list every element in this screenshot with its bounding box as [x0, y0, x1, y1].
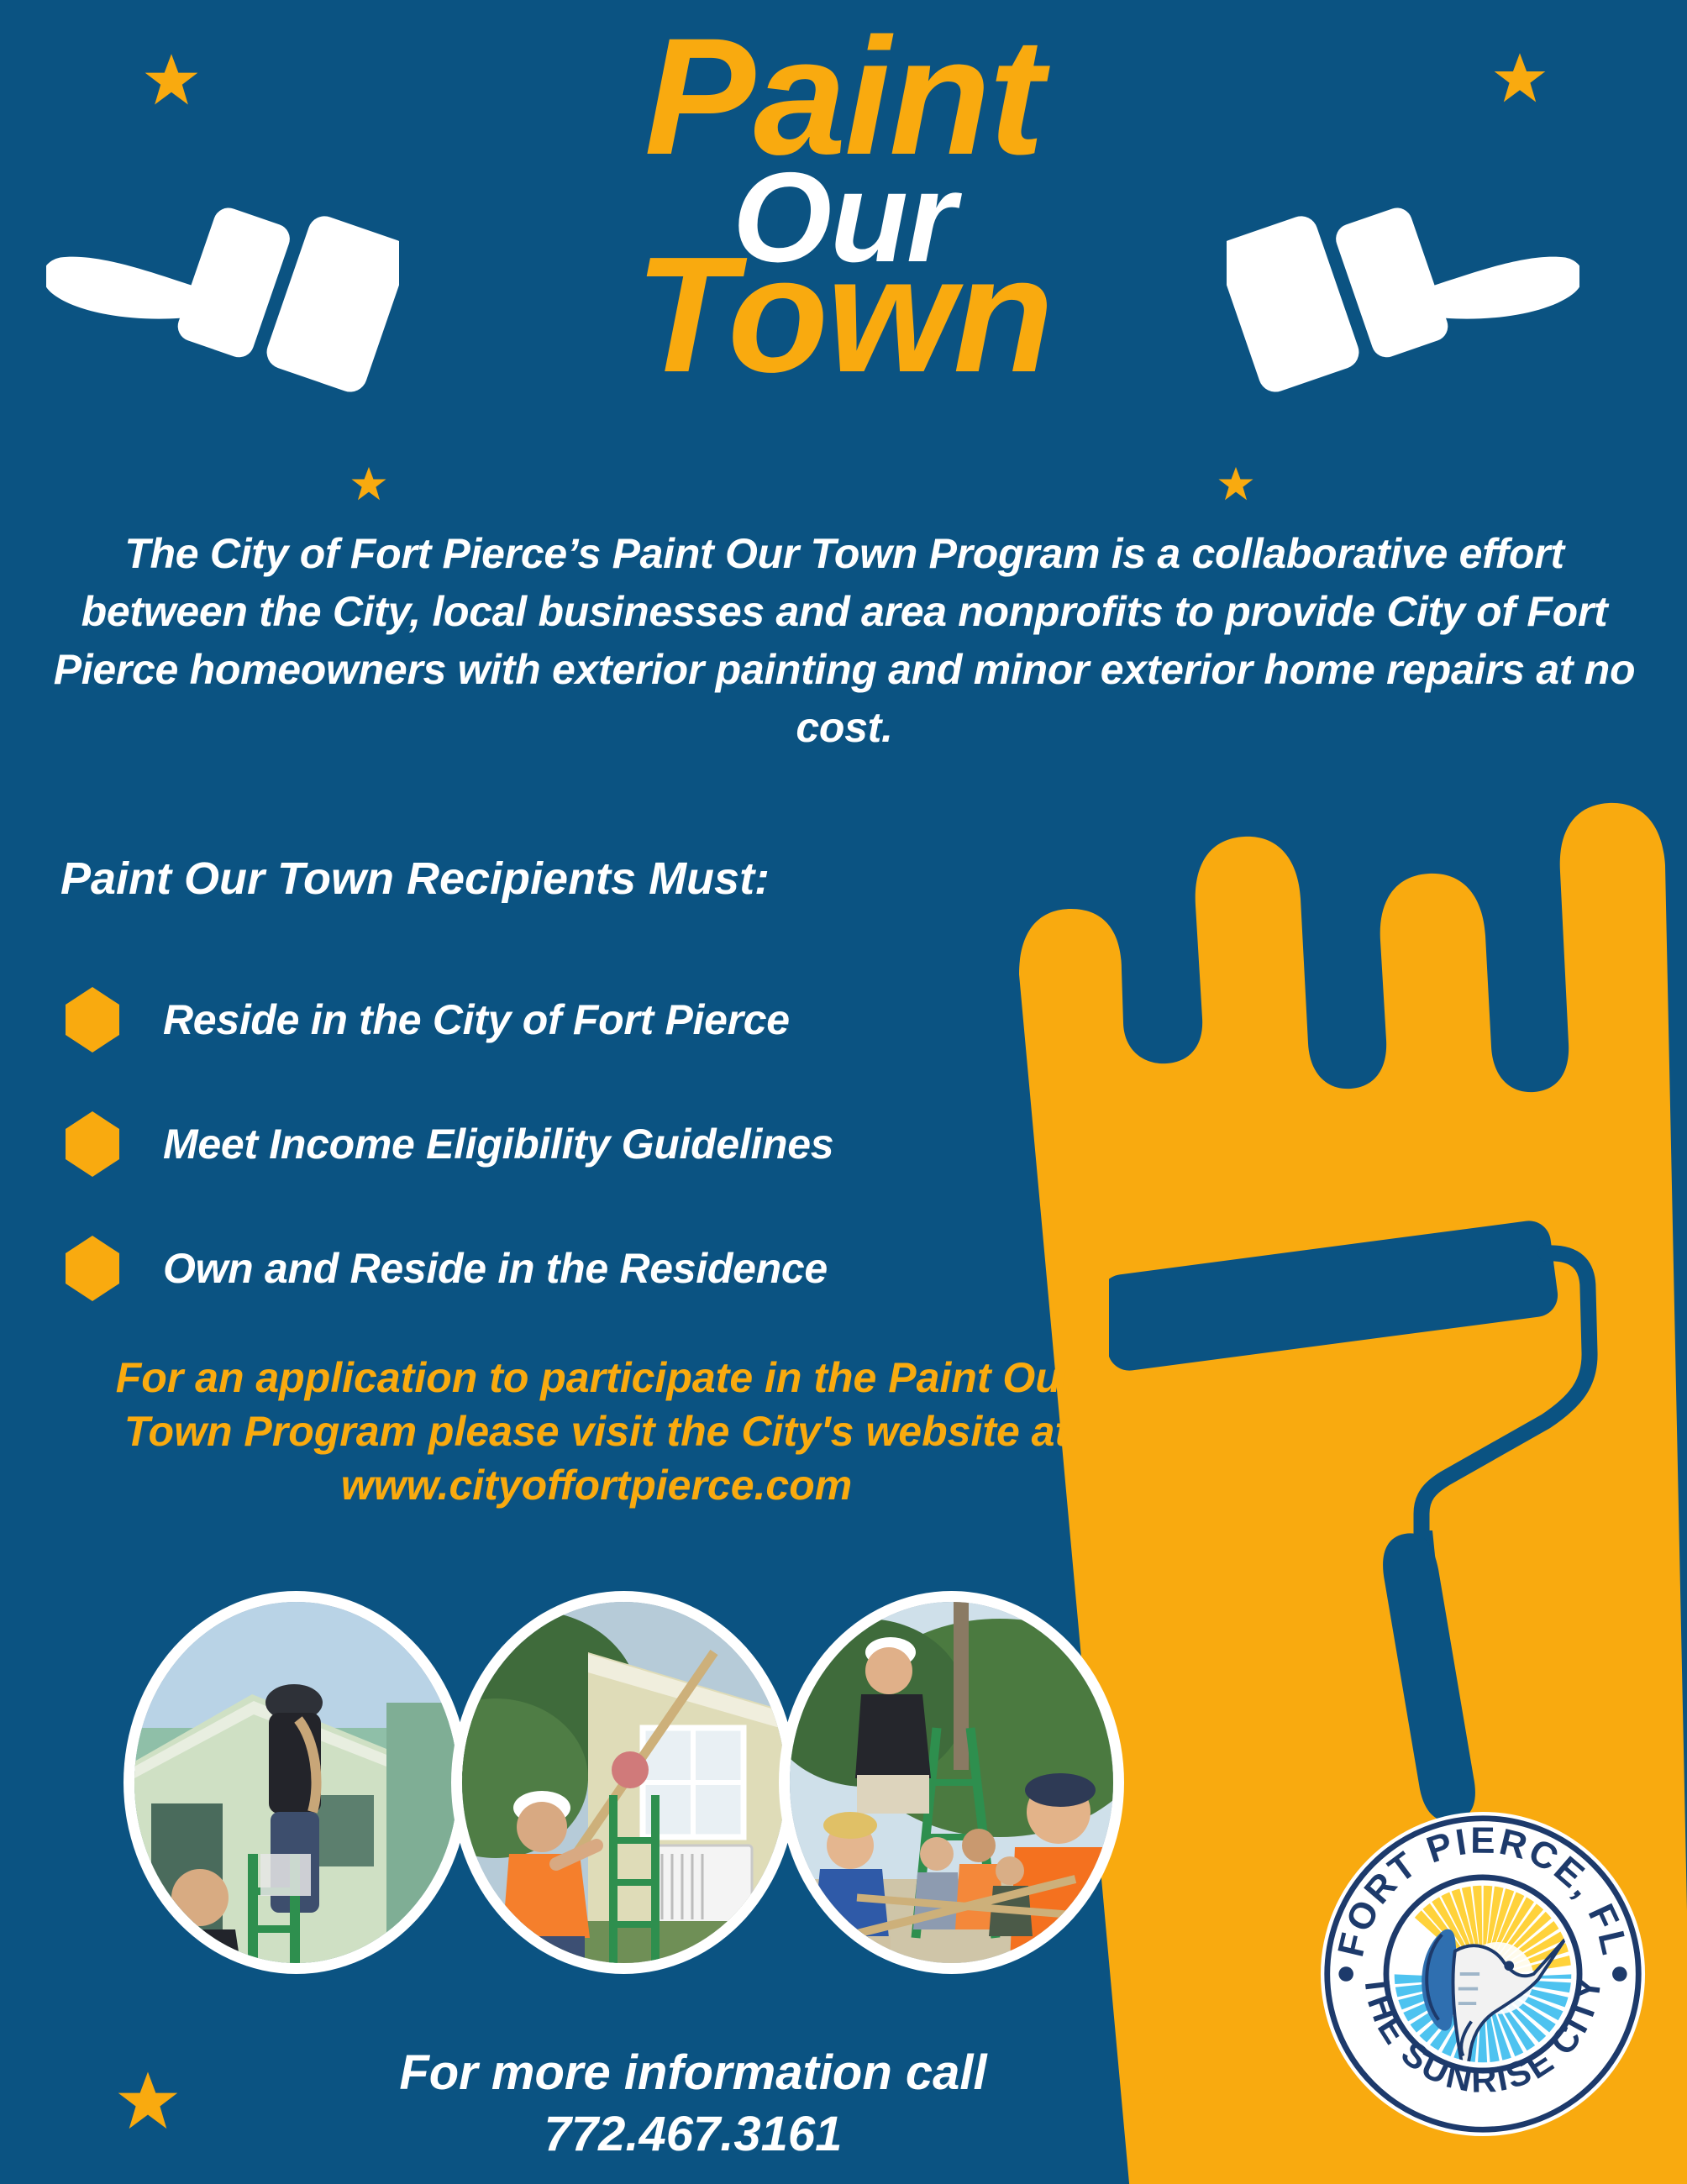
star-icon — [1218, 466, 1253, 501]
website-url[interactable]: www.cityoffortpierce.com — [71, 1458, 1122, 1512]
requirements-list: Reside in the City of Fort Pierce Meet I… — [66, 958, 1032, 1331]
paint-our-town-flyer: Paint Our Town The City of Fort Pierce’s… — [0, 0, 1687, 2184]
cta-line-1: For an application to participate in the — [116, 1354, 877, 1401]
requirements-heading: Paint Our Town Recipients Must: — [60, 853, 770, 905]
paint-roller-icon — [1109, 1201, 1687, 1890]
page-title: Paint Our Town — [0, 25, 1687, 386]
list-item: Own and Reside in the Residence — [66, 1206, 1032, 1331]
hexagon-bullet-icon — [66, 1111, 119, 1177]
title-line-town: Town — [0, 244, 1687, 386]
list-item-label: Meet Income Eligibility Guidelines — [163, 1120, 833, 1168]
city-seal-logo: FORT PIERCE, FL THE SUNRISE CITY — [1319, 1810, 1647, 2138]
list-item: Reside in the City of Fort Pierce — [66, 958, 1032, 1082]
list-item-label: Reside in the City of Fort Pierce — [163, 995, 790, 1044]
star-icon — [351, 466, 386, 501]
contact-footer: For more information call 772.467.3161 — [176, 2043, 1210, 2165]
photo-gallery — [126, 1592, 1126, 1978]
application-callout: For an application to participate in the… — [71, 1351, 1122, 1512]
program-description: The City of Fort Pierce’s Paint Our Town… — [46, 525, 1642, 757]
photo-image — [462, 1602, 786, 1963]
list-item-label: Own and Reside in the Residence — [163, 1244, 828, 1293]
photo-image — [790, 1602, 1113, 1963]
phone-number[interactable]: 772.467.3161 — [176, 2104, 1210, 2166]
hexagon-bullet-icon — [66, 1236, 119, 1301]
cta-line-3: City's website at — [741, 1408, 1069, 1455]
footer-line: For more information call — [399, 2045, 986, 2100]
star-icon — [118, 2071, 178, 2131]
photo-volunteers-ladder — [134, 1602, 458, 1963]
list-item: Meet Income Eligibility Guidelines — [66, 1082, 1032, 1206]
photo-volunteer-group — [790, 1602, 1113, 1963]
photo-volunteer-pole — [462, 1602, 786, 1963]
hexagon-bullet-icon — [66, 987, 119, 1053]
photo-image — [134, 1602, 458, 1963]
